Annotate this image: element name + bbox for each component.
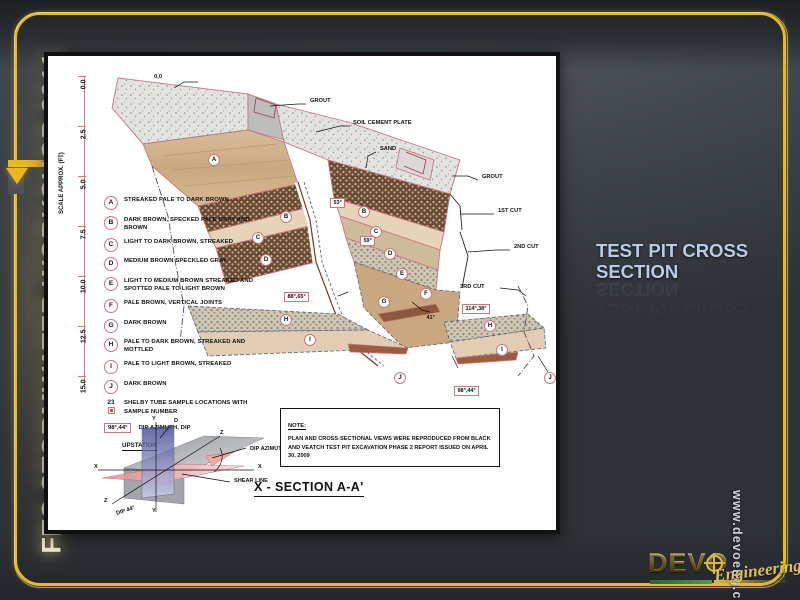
vertical-scale: SCALE APPROX. (FT) 0.0 2.5 5.0 7.5 10.0 … (54, 64, 100, 394)
legend-text: LIGHT TO MEDIUM BROWN STREAKED AND SPOTT… (124, 277, 274, 294)
legend-key: I (104, 360, 118, 374)
legend-item: J DARK BROWN (104, 380, 274, 394)
axis-label-x-right: X (258, 464, 262, 470)
presentation-slide: FES STORMWATER WORKSHOP 2011 www.devoeng… (0, 0, 800, 600)
scale-tick-label: 5.0 (81, 180, 88, 214)
legend-text: DARK BROWN (124, 380, 167, 388)
slide-heading-line1: TEST PIT CROSS (596, 240, 748, 261)
zone-marker: F (420, 288, 432, 300)
logo-gold-bar (714, 580, 790, 583)
slide-heading-reflection: TEST PIT CROSS SECTION (596, 278, 786, 321)
angle-label-41: 41° (424, 314, 437, 322)
axis-label-y-top: Y (152, 416, 156, 422)
legend-key: C (104, 238, 118, 252)
shelby-number: 23 (104, 399, 118, 406)
slide-heading: TEST PIT CROSS SECTION (596, 240, 786, 283)
zone-marker: H (484, 320, 496, 332)
zone-marker: A (208, 154, 220, 166)
axis-label-z-bottom: Z (104, 498, 107, 504)
zone-marker: I (496, 344, 508, 356)
zone-marker: I (304, 334, 316, 346)
zone-marker: B (358, 206, 370, 218)
legend-item: B DARK BROWN, SPECKED PALE GRAY AND BROW… (104, 216, 274, 233)
zone-marker: E (396, 268, 408, 280)
legend-key: E (104, 277, 118, 291)
devo-logo[interactable]: DEVO Engineering (648, 548, 788, 592)
scale-tick-label: 12.5 (81, 330, 88, 364)
zone-marker: J (394, 372, 406, 384)
legend-item: H PALE TO DARK BROWN, STREAKED AND MOTTL… (104, 338, 274, 355)
zone-marker: B (280, 211, 292, 223)
legend-text: PALE BROWN, VERTICAL JOINTS (124, 299, 222, 307)
drawing-sheet: SCALE APPROX. (FT) 0.0 2.5 5.0 7.5 10.0 … (48, 56, 556, 530)
angle-box: 98°,44° (454, 386, 479, 396)
callout-grout-right: GROUT (482, 174, 503, 180)
legend-item: I PALE TO LIGHT BROWN, STREAKED (104, 360, 274, 374)
legend-item: G DARK BROWN (104, 319, 274, 333)
legend-text: DARK BROWN, SPECKED PALE GRAY AND BROWN (124, 216, 274, 233)
axis-label-x-left: X (94, 464, 98, 470)
legend-key: H (104, 338, 118, 352)
legend-item: D MEDIUM BROWN SPECKLED GRAY (104, 257, 274, 271)
legend-text: PALE TO LIGHT BROWN, STREAKED (124, 360, 231, 368)
note-title: NOTE: (288, 423, 306, 430)
legend-item: E LIGHT TO MEDIUM BROWN STREAKED AND SPO… (104, 277, 274, 294)
zone-marker: C (370, 226, 382, 238)
callout-2nd-cut: 2ND CUT (514, 244, 539, 250)
zone-marker: G (378, 296, 390, 308)
scale-tick-label: 10.0 (81, 280, 88, 314)
legend-key: B (104, 216, 118, 230)
angle-box: 53° (330, 198, 345, 208)
logo-green-bar (650, 580, 712, 584)
callout-grout-top: GROUT (310, 98, 331, 104)
gold-arrow-icon (6, 168, 28, 184)
legend-key: J (104, 380, 118, 394)
legend-text: PALE TO DARK BROWN, STREAKED AND MOTTLED (124, 338, 274, 355)
reflection-line2: SECTION (596, 278, 678, 299)
origin-label: 0,0 (154, 74, 162, 80)
angle-box: 114°,38° (462, 304, 490, 314)
drawing-sheet-frame: SCALE APPROX. (FT) 0.0 2.5 5.0 7.5 10.0 … (44, 52, 560, 534)
zone-marker: H (280, 314, 292, 326)
legend-item: F PALE BROWN, VERTICAL JOINTS (104, 299, 274, 313)
zone-marker: D (384, 248, 396, 260)
axis-label-d: D (174, 418, 178, 424)
legend-text: STREAKED PALE TO DARK BROWN (124, 196, 229, 204)
legend-key: D (104, 257, 118, 271)
angle-box: 88°,65° (284, 292, 309, 302)
note-body: PLAN AND CROSS-SECTIONAL VIEWS WERE REPR… (288, 435, 492, 461)
axis-label-y-bottom: Y (152, 508, 156, 514)
callout-1st-cut: 1ST CUT (498, 208, 522, 214)
note-box: NOTE: PLAN AND CROSS-SECTIONAL VIEWS WER… (280, 408, 500, 467)
zone-marker: J (544, 372, 556, 384)
scale-tick-label: 0.0 (81, 80, 88, 114)
callout-3rd-cut: 3RD CUT (460, 284, 485, 290)
drawing-title: X - SECTION A-A' (254, 480, 364, 497)
legend-key: G (104, 319, 118, 333)
legend-text: DARK BROWN (124, 319, 167, 327)
legend-item: A STREAKED PALE TO DARK BROWN (104, 196, 274, 210)
legend-text: MEDIUM BROWN SPECKLED GRAY (124, 257, 227, 265)
axis-label-z-top: Z (220, 430, 223, 436)
legend-text: LIGHT TO DARK BROWN, STREAKED (124, 238, 233, 246)
scale-tick-label: 15.0 (81, 380, 88, 414)
legend-key: F (104, 299, 118, 313)
callout-soil-cement-plate: SOIL CEMENT PLATE (353, 120, 412, 126)
legend-key: A (104, 196, 118, 210)
scale-tick-label: 7.5 (81, 230, 88, 264)
legend-item: C LIGHT TO DARK BROWN, STREAKED (104, 238, 274, 252)
callout-sand: SAND (380, 146, 396, 152)
scale-tick-label: 2.5 (81, 130, 88, 164)
reflection-line1: TEST PIT CROSS (596, 300, 748, 321)
scale-caption: SCALE APPROX. (FT) (59, 152, 65, 214)
